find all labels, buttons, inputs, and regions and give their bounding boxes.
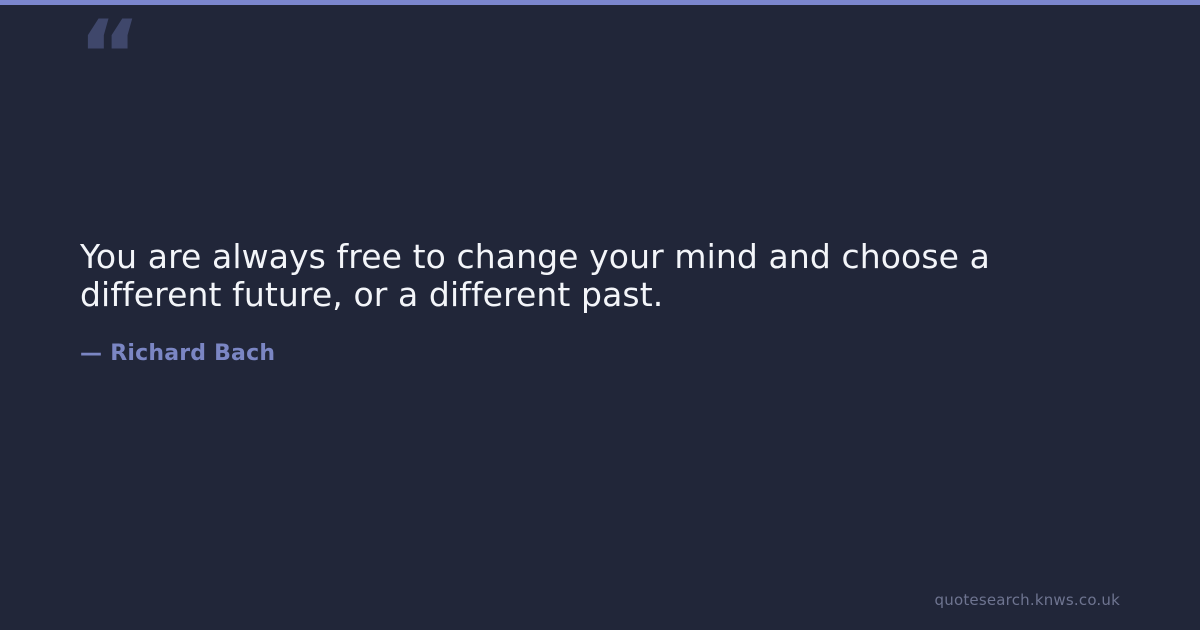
quote-card: “ You are always free to change your min… [0,0,1200,630]
em-dash: — [80,340,102,368]
top-accent-bar [0,0,1200,5]
quote-attribution: —Richard Bach [80,314,1120,368]
source-url: quotesearch.knws.co.uk [935,590,1120,610]
quote-body: You are always free to change your mind … [80,238,1120,368]
author-name: Richard Bach [110,341,275,366]
opening-quote-icon: “ [78,8,139,104]
quote-text: You are always free to change your mind … [80,238,1110,314]
